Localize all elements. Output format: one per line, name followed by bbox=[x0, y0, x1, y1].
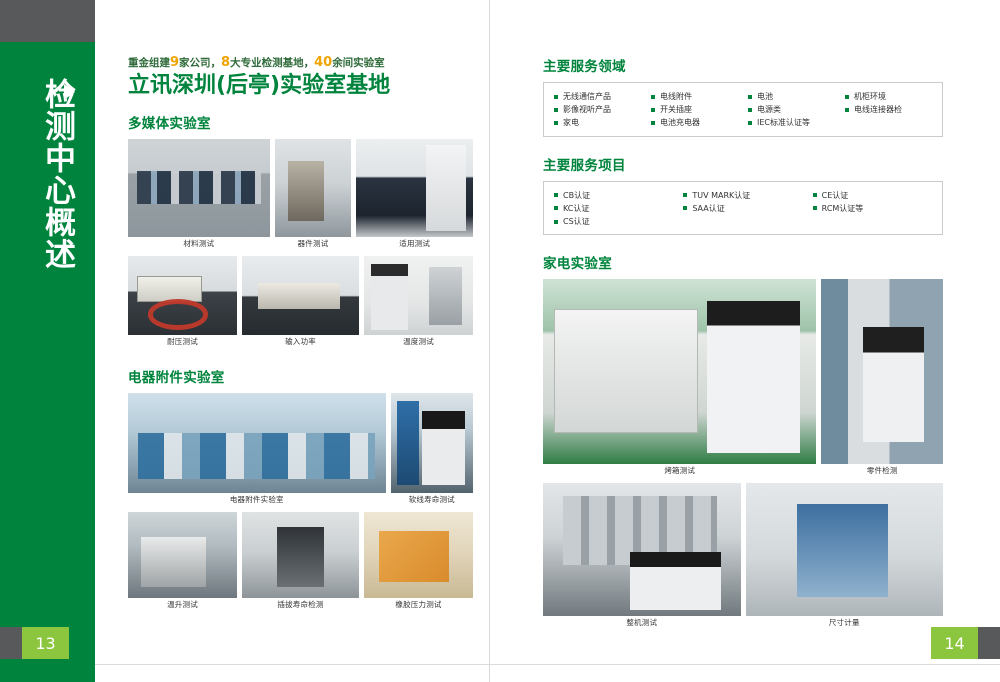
bullet-square-icon bbox=[683, 206, 687, 210]
right-page-column: 主要服务领域 无线通信产品 影像视听产品 家电 电线附件 开关插座 电池充电器 … bbox=[543, 55, 943, 630]
list-item-label: CS认证 bbox=[563, 217, 590, 226]
kicker-number-labs: 40 bbox=[314, 55, 332, 70]
photo-row: 温升测试 插拔寿命检测 橡胶压力测试 bbox=[128, 512, 473, 613]
service-fields-card: 无线通信产品 影像视听产品 家电 电线附件 开关插座 电池充电器 电池 电源类 … bbox=[543, 82, 943, 137]
list-item-label: CE认证 bbox=[822, 191, 849, 200]
photo-caption: 整机测试 bbox=[543, 616, 741, 631]
lab-photo bbox=[543, 279, 816, 464]
list-item: 机柜环境 bbox=[845, 92, 932, 101]
list-item: 电线附件 bbox=[651, 92, 738, 101]
section-heading-home-appliance-lab: 家电实验室 bbox=[543, 252, 943, 272]
photo-tile: 零件检测 bbox=[821, 279, 943, 479]
kicker-number-bases: 8 bbox=[221, 55, 230, 70]
bullet-square-icon bbox=[651, 121, 655, 125]
kicker-part-4: 余间实验室 bbox=[332, 57, 385, 69]
kicker-part-1: 重金组建 bbox=[128, 57, 170, 69]
bullet-square-icon bbox=[554, 95, 558, 99]
photo-caption: 尺寸计量 bbox=[746, 616, 944, 631]
list-item: 开关插座 bbox=[651, 105, 738, 114]
triangle-right-icon bbox=[64, 84, 75, 100]
lab-photo bbox=[275, 139, 352, 237]
photo-tile: 适用测试 bbox=[356, 139, 473, 252]
photo-tile: 器件测试 bbox=[275, 139, 352, 252]
list-item-label: 家电 bbox=[563, 118, 579, 127]
list-item-label: 开关插座 bbox=[660, 105, 692, 114]
lab-photo bbox=[356, 139, 473, 237]
list-item: IEC标准认证等 bbox=[748, 118, 835, 127]
section-heading-electrical-accessory-lab: 电器附件实验室 bbox=[128, 366, 473, 386]
bullet-square-icon bbox=[748, 95, 752, 99]
list-item-label: IEC标准认证等 bbox=[757, 118, 810, 127]
list-item-label: 电池充电器 bbox=[660, 118, 700, 127]
lab-photo bbox=[821, 279, 943, 464]
photo-caption: 软线寿命测试 bbox=[391, 493, 473, 508]
list-item: 家电 bbox=[554, 118, 641, 127]
lab-photo bbox=[128, 139, 270, 237]
list-item: 无线通信产品 bbox=[554, 92, 641, 101]
page-spine-divider bbox=[489, 0, 490, 682]
photo-row: 整机测试 尺寸计量 bbox=[543, 483, 943, 631]
bullet-square-icon bbox=[554, 108, 558, 112]
photo-caption: 适用测试 bbox=[356, 237, 473, 252]
list-item-label: KC认证 bbox=[563, 204, 589, 213]
bullet-square-icon bbox=[748, 121, 752, 125]
service-projects-list: CB认证 KC认证 CS认证 TUV MARK认证 SAA认证 CE认证 RCM… bbox=[554, 191, 932, 227]
bullet-square-icon bbox=[845, 95, 849, 99]
photo-caption: 耐压测试 bbox=[128, 335, 237, 350]
page-number-left-value: 13 bbox=[22, 627, 69, 659]
bullet-square-icon bbox=[651, 108, 655, 112]
bullet-square-icon bbox=[683, 193, 687, 197]
list-item-empty bbox=[683, 217, 802, 226]
photo-tile: 插拔寿命检测 bbox=[242, 512, 359, 613]
list-item: 影像视听产品 bbox=[554, 105, 641, 114]
section-heading-service-projects: 主要服务项目 bbox=[543, 154, 943, 174]
list-item: 电线连接器检 bbox=[845, 105, 932, 114]
list-item-label: 电线附件 bbox=[660, 92, 692, 101]
lab-photo bbox=[364, 512, 473, 598]
photo-caption: 插拔寿命检测 bbox=[242, 598, 359, 613]
photo-tile: 烤箱测试 bbox=[543, 279, 816, 479]
page-title: 立讯深圳(后亭)实验室基地 bbox=[128, 74, 473, 98]
list-item-label: 电池 bbox=[757, 92, 773, 101]
bullet-square-icon bbox=[554, 206, 558, 210]
list-item-empty bbox=[845, 118, 932, 127]
list-item-label: TUV MARK认证 bbox=[692, 191, 750, 200]
lab-photo bbox=[128, 256, 237, 335]
list-item: 电源类 bbox=[748, 105, 835, 114]
list-item: CS认证 bbox=[554, 217, 673, 226]
list-item-label: 影像视听产品 bbox=[563, 105, 611, 114]
bullet-square-icon bbox=[651, 95, 655, 99]
photo-tile: 整机测试 bbox=[543, 483, 741, 631]
top-gray-block bbox=[0, 0, 95, 42]
left-page-column: 重金组建9家公司，8大专业检测基地，40余间实验室 立讯深圳(后亭)实验室基地 … bbox=[128, 55, 473, 612]
page-number-left-accent bbox=[0, 627, 22, 659]
photo-caption: 输入功率 bbox=[242, 335, 359, 350]
photo-tile: 尺寸计量 bbox=[746, 483, 944, 631]
sidebar-vertical-title: 检测中心概述 bbox=[30, 78, 74, 270]
photo-caption: 温度测试 bbox=[364, 335, 473, 350]
photo-tile: 温升测试 bbox=[128, 512, 237, 613]
photo-tile: 耐压测试 bbox=[128, 256, 237, 350]
bullet-square-icon bbox=[845, 108, 849, 112]
photo-caption: 橡胶压力测试 bbox=[364, 598, 473, 613]
page-number-right-value: 14 bbox=[931, 627, 978, 659]
photo-row: 耐压测试 输入功率 温度测试 bbox=[128, 256, 473, 350]
photo-row: 电器附件实验室 软线寿命测试 bbox=[128, 393, 473, 508]
photo-caption: 温升测试 bbox=[128, 598, 237, 613]
kicker-part-3: 大专业检测基地， bbox=[230, 57, 314, 69]
footer-rule bbox=[95, 664, 1000, 665]
photo-tile: 温度测试 bbox=[364, 256, 473, 350]
list-item: SAA认证 bbox=[683, 204, 802, 213]
lab-photo bbox=[242, 512, 359, 598]
list-item-label: CB认证 bbox=[563, 191, 590, 200]
section-heading-multimedia-lab: 多媒体实验室 bbox=[128, 112, 473, 132]
bullet-square-icon bbox=[554, 121, 558, 125]
page-number-right: 14 bbox=[931, 627, 1000, 659]
list-item-empty bbox=[813, 217, 932, 226]
lab-photo bbox=[242, 256, 359, 335]
photo-tile: 输入功率 bbox=[242, 256, 359, 350]
photo-caption: 零件检测 bbox=[821, 464, 943, 479]
lab-photo bbox=[364, 256, 473, 335]
bullet-square-icon bbox=[748, 108, 752, 112]
lab-photo bbox=[746, 483, 944, 616]
list-item-label: 机柜环境 bbox=[854, 92, 886, 101]
photo-caption: 材料测试 bbox=[128, 237, 270, 252]
photo-tile: 橡胶压力测试 bbox=[364, 512, 473, 613]
lab-photo bbox=[128, 512, 237, 598]
list-item: CB认证 bbox=[554, 191, 673, 200]
photo-tile: 电器附件实验室 bbox=[128, 393, 386, 508]
list-item-label: 电线连接器检 bbox=[854, 105, 902, 114]
photo-caption: 烤箱测试 bbox=[543, 464, 816, 479]
list-item: 电池充电器 bbox=[651, 118, 738, 127]
kicker-number-companies: 9 bbox=[170, 55, 179, 70]
bullet-square-icon bbox=[813, 206, 817, 210]
list-item-label: 无线通信产品 bbox=[563, 92, 611, 101]
kicker-part-2: 家公司， bbox=[179, 57, 221, 69]
bullet-square-icon bbox=[813, 193, 817, 197]
bullet-square-icon bbox=[554, 220, 558, 224]
lab-photo bbox=[543, 483, 741, 616]
photo-row: 烤箱测试 零件检测 bbox=[543, 279, 943, 479]
photo-tile: 软线寿命测试 bbox=[391, 393, 473, 508]
photo-caption: 电器附件实验室 bbox=[128, 493, 386, 508]
list-item: 电池 bbox=[748, 92, 835, 101]
list-item: RCM认证等 bbox=[813, 204, 932, 213]
service-fields-list: 无线通信产品 影像视听产品 家电 电线附件 开关插座 电池充电器 电池 电源类 … bbox=[554, 92, 932, 128]
list-item-label: RCM认证等 bbox=[822, 204, 864, 213]
list-item-label: 电源类 bbox=[757, 105, 781, 114]
service-projects-card: CB认证 KC认证 CS认证 TUV MARK认证 SAA认证 CE认证 RCM… bbox=[543, 181, 943, 236]
lab-photo bbox=[128, 393, 386, 493]
list-item: CE认证 bbox=[813, 191, 932, 200]
list-item: TUV MARK认证 bbox=[683, 191, 802, 200]
photo-row: 材料测试 器件测试 适用测试 bbox=[128, 139, 473, 252]
page-number-right-accent bbox=[978, 627, 1000, 659]
list-item: KC认证 bbox=[554, 204, 673, 213]
page-number-left: 13 bbox=[0, 627, 69, 659]
photo-caption: 器件测试 bbox=[275, 237, 352, 252]
section-heading-service-fields: 主要服务领域 bbox=[543, 55, 943, 75]
brochure-spread: 检测中心概述 13 14 重金组建9家公司，8大专业检测基地，40余间实验室 立… bbox=[0, 0, 1000, 682]
kicker-line: 重金组建9家公司，8大专业检测基地，40余间实验室 bbox=[128, 55, 473, 70]
lab-photo bbox=[391, 393, 473, 493]
bullet-square-icon bbox=[554, 193, 558, 197]
list-item-label: SAA认证 bbox=[692, 204, 724, 213]
photo-tile: 材料测试 bbox=[128, 139, 270, 252]
